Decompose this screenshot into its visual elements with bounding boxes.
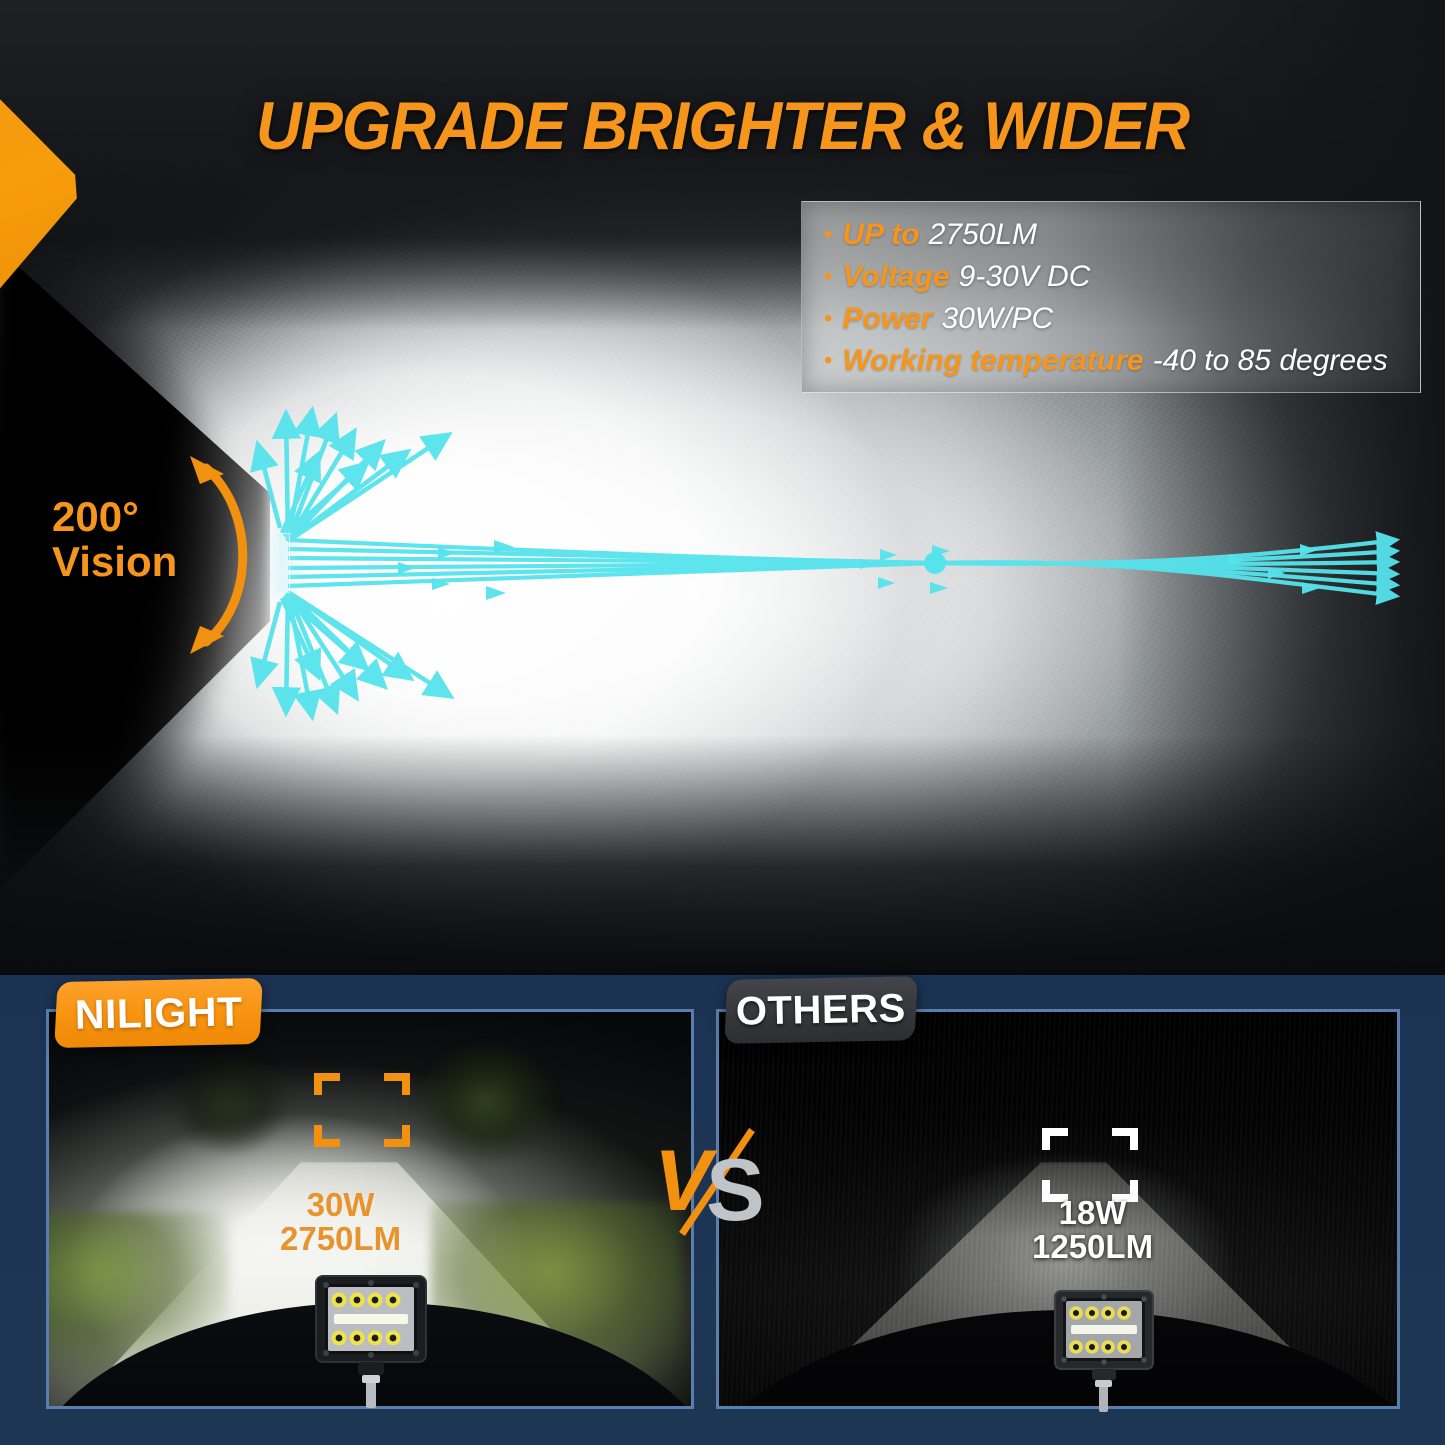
others-power-label: 18W 1250LM xyxy=(1032,1196,1153,1265)
spec-row: • Power 30W/PC xyxy=(824,302,1412,336)
led-light-bar-pod-others xyxy=(1052,1288,1156,1420)
tree-silhouette xyxy=(415,1030,565,1180)
nilight-power-label: 30W 2750LM xyxy=(280,1188,401,1257)
specifications-panel: • UP to 2750LM • Voltage 9-30V DC • Powe… xyxy=(801,201,1421,393)
badge-others-label: OTHERS xyxy=(736,986,907,1034)
badge-nilight: NILIGHT xyxy=(54,978,263,1048)
spec-value: 2750LM xyxy=(929,218,1037,252)
svg-text:S: S xyxy=(706,1140,765,1236)
spec-row: • Working temperature -40 to 85 degrees xyxy=(824,344,1412,378)
spec-label: Power xyxy=(842,302,932,336)
bottom-vignette xyxy=(0,735,1445,975)
spec-row: • Voltage 9-30V DC xyxy=(824,260,1412,294)
spec-row: • UP to 2750LM xyxy=(824,218,1412,252)
bullet-icon: • xyxy=(824,223,832,247)
bullet-icon: • xyxy=(824,349,832,373)
others-lumens: 1250LM xyxy=(1032,1230,1153,1264)
spec-value: 30W/PC xyxy=(941,302,1053,336)
spec-value: 9-30V DC xyxy=(959,260,1091,294)
spec-label: UP to xyxy=(842,218,919,252)
tree-silhouette xyxy=(167,1046,297,1166)
nilight-lumens: 2750LM xyxy=(280,1222,401,1256)
spec-value: -40 to 85 degrees xyxy=(1153,344,1388,378)
product-infographic: UPGRADE BRIGHTER & WIDER xyxy=(0,0,1445,1445)
spec-label: Working temperature xyxy=(842,344,1143,378)
double-headed-arc-arrow-icon xyxy=(178,440,288,670)
focus-bracket-nilight xyxy=(314,1073,410,1147)
badge-others: OTHERS xyxy=(724,976,917,1044)
bullet-icon: • xyxy=(824,307,832,331)
focus-bracket-others xyxy=(1042,1128,1138,1202)
vs-logo-icon: V S xyxy=(656,1128,776,1236)
spec-label: Voltage xyxy=(842,260,949,294)
others-wattage: 18W xyxy=(1032,1196,1153,1230)
page-title: UPGRADE BRIGHTER & WIDER xyxy=(51,92,1395,160)
bullet-icon: • xyxy=(824,265,832,289)
led-light-bar-pod-nilight xyxy=(312,1272,430,1422)
badge-nilight-label: NILIGHT xyxy=(74,988,243,1038)
nilight-wattage: 30W xyxy=(280,1188,401,1222)
